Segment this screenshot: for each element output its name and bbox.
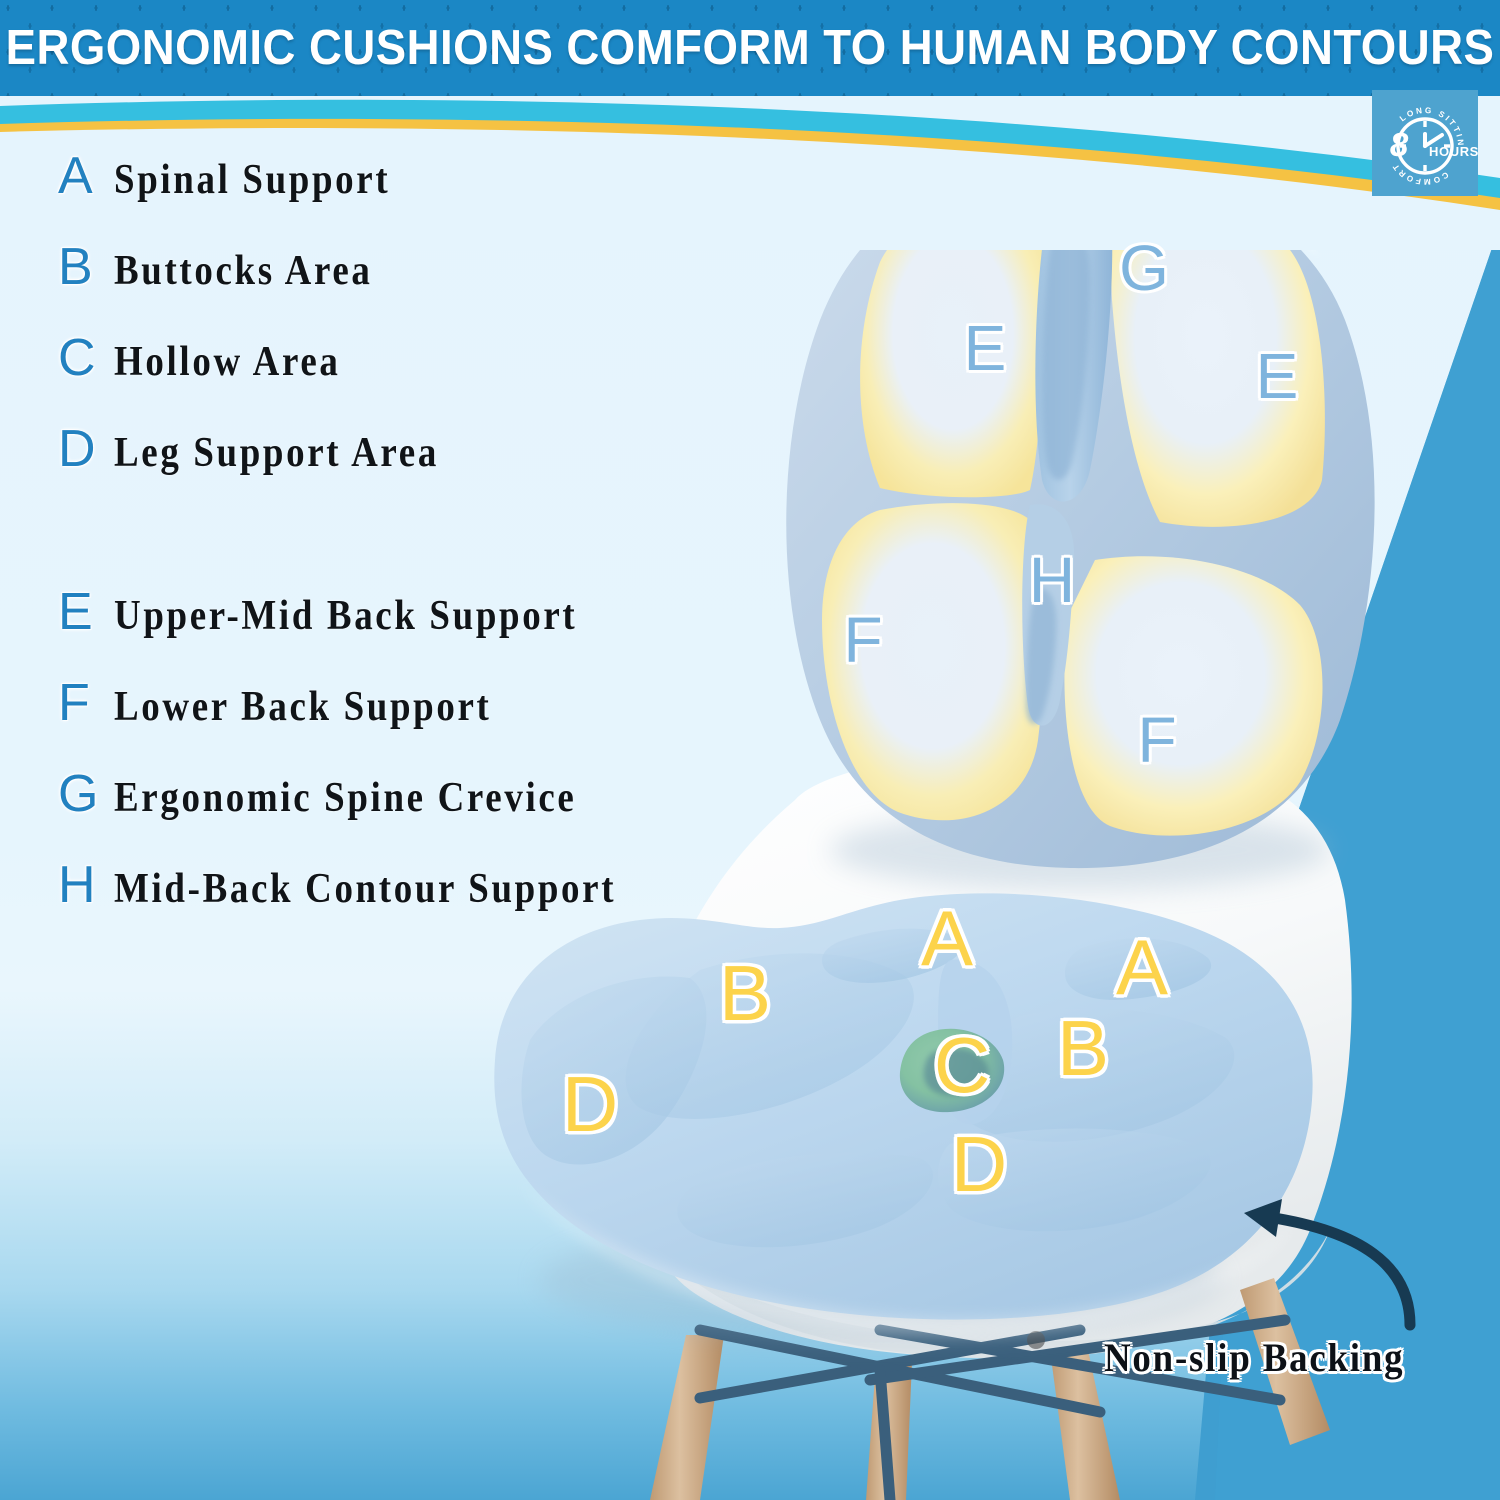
legend-letter: C bbox=[58, 332, 114, 384]
badge-hours-number: 8 bbox=[1390, 126, 1409, 163]
seat-callout-d-right: D bbox=[951, 1125, 1007, 1203]
legend-letter: E bbox=[58, 586, 114, 638]
legend-label: Leg Support Area bbox=[114, 432, 439, 474]
page-title: ERGONOMIC CUSHIONS COMFORM TO HUMAN BODY… bbox=[6, 20, 1495, 76]
feature-legend: A Spinal Support B Buttocks Area C Hollo… bbox=[58, 150, 698, 950]
legend-group-back: E Upper-Mid Back Support F Lower Back Su… bbox=[58, 586, 698, 950]
legend-label: Upper-Mid Back Support bbox=[114, 595, 577, 637]
legend-letter: G bbox=[58, 768, 114, 820]
legend-item: D Leg Support Area bbox=[58, 423, 698, 514]
legend-item: G Ergonomic Spine Crevice bbox=[58, 768, 698, 859]
legend-label: Mid-Back Contour Support bbox=[114, 868, 616, 910]
legend-label: Hollow Area bbox=[114, 341, 341, 383]
legend-letter: A bbox=[58, 150, 114, 202]
header-banner: ERGONOMIC CUSHIONS COMFORM TO HUMAN BODY… bbox=[0, 0, 1500, 96]
legend-group-separator bbox=[58, 514, 698, 586]
seat-callout-d-left: D bbox=[562, 1065, 618, 1143]
legend-label: Spinal Support bbox=[114, 159, 390, 201]
legend-item: F Lower Back Support bbox=[58, 677, 698, 768]
infographic-root: ERGONOMIC CUSHIONS COMFORM TO HUMAN BODY… bbox=[0, 0, 1500, 1500]
back-callout-e-right: E bbox=[1256, 344, 1299, 408]
seat-callout-a-right: A bbox=[1116, 928, 1168, 1006]
seat-callout-a-left: A bbox=[921, 899, 973, 977]
legend-item: A Spinal Support bbox=[58, 150, 698, 241]
legend-group-seat: A Spinal Support B Buttocks Area C Hollo… bbox=[58, 150, 698, 514]
badge-hours-unit: HOURS bbox=[1429, 144, 1478, 159]
nonslip-arrow-icon bbox=[1210, 1195, 1430, 1345]
seat-callout-b-right: B bbox=[1057, 1009, 1109, 1087]
seat-callout-c: C bbox=[934, 1026, 990, 1104]
legend-letter: D bbox=[58, 423, 114, 475]
back-callout-g: G bbox=[1119, 236, 1169, 300]
nonslip-backing-label: Non-slip Backing bbox=[1104, 1334, 1404, 1381]
legend-item: E Upper-Mid Back Support bbox=[58, 586, 698, 677]
back-callout-f-right: F bbox=[1137, 708, 1176, 772]
legend-letter: F bbox=[58, 677, 114, 729]
legend-label: Ergonomic Spine Crevice bbox=[114, 777, 576, 819]
back-callout-e-left: E bbox=[964, 316, 1007, 380]
long-sitting-comfort-badge: 8 HOURS LONG SITTING COMFORT bbox=[1372, 90, 1478, 196]
seat-callout-b-left: B bbox=[719, 954, 771, 1032]
legend-item: H Mid-Back Contour Support bbox=[58, 859, 698, 950]
legend-letter: H bbox=[58, 859, 114, 911]
legend-item: B Buttocks Area bbox=[58, 241, 698, 332]
legend-letter: B bbox=[58, 241, 114, 293]
back-callout-h: H bbox=[1029, 548, 1075, 612]
legend-label: Buttocks Area bbox=[114, 250, 372, 292]
legend-label: Lower Back Support bbox=[114, 686, 491, 728]
legend-item: C Hollow Area bbox=[58, 332, 698, 423]
back-callout-f-left: F bbox=[843, 608, 882, 672]
